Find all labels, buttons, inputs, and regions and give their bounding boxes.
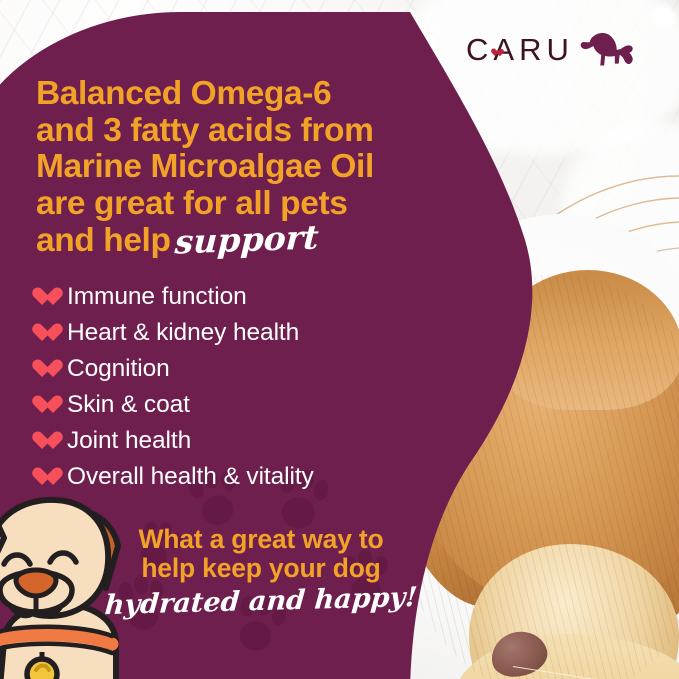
list-item: Skin & coat (32, 388, 432, 422)
headline-line-5-text: and help (36, 222, 171, 259)
closing-line-1: What a great way to (96, 525, 426, 554)
list-item: Overall health & vitality (32, 460, 432, 494)
benefit-label: Immune function (67, 284, 247, 310)
heart-bullet-icon (32, 288, 53, 307)
heart-bullet-icon (32, 360, 53, 379)
headline-line-3: Marine Microalgae Oil (36, 149, 456, 186)
list-item: Heart & kidney health (32, 316, 432, 350)
heart-bullet-icon (32, 432, 53, 451)
heart-bullet-icon (32, 468, 53, 487)
caru-wordmark: CARU (466, 32, 574, 68)
promo-banner: Balanced Omega-6 and 3 fatty acids from … (0, 0, 679, 679)
list-item: Joint health (32, 424, 432, 458)
heart-bullet-icon (32, 396, 53, 415)
headline-script-word: support (173, 220, 319, 261)
closing-message: What a great way to help keep your dog h… (96, 525, 426, 617)
headline-line-1: Balanced Omega-6 (36, 76, 456, 113)
closing-script-line: hydrated and happy! (94, 582, 427, 622)
benefit-label: Heart & kidney health (67, 320, 299, 346)
benefit-label: Skin & coat (67, 392, 190, 418)
caru-dog-silhouette-icon (576, 30, 636, 70)
caru-logo[interactable]: CARU (466, 22, 636, 78)
benefit-label: Joint health (67, 428, 191, 454)
bokeh-dot (655, 8, 672, 25)
headline-line-5: and helpsupport (36, 222, 456, 260)
caru-wordmark-text: CARU (466, 32, 574, 67)
headline-line-2: and 3 fatty acids from (36, 113, 456, 150)
benefit-label: Overall health & vitality (67, 464, 314, 490)
headline: Balanced Omega-6 and 3 fatty acids from … (36, 76, 456, 260)
headline-line-4: are great for all pets (36, 186, 456, 223)
cartoon-dog-mascot (0, 492, 136, 679)
heart-bullet-icon (32, 324, 53, 343)
closing-line-2: help keep your dog (96, 554, 426, 583)
benefits-list: Immune function Heart & kidney health Co… (32, 280, 432, 496)
list-item: Immune function (32, 280, 432, 314)
list-item: Cognition (32, 352, 432, 386)
benefit-label: Cognition (67, 356, 170, 382)
caru-heart-icon (491, 49, 500, 57)
